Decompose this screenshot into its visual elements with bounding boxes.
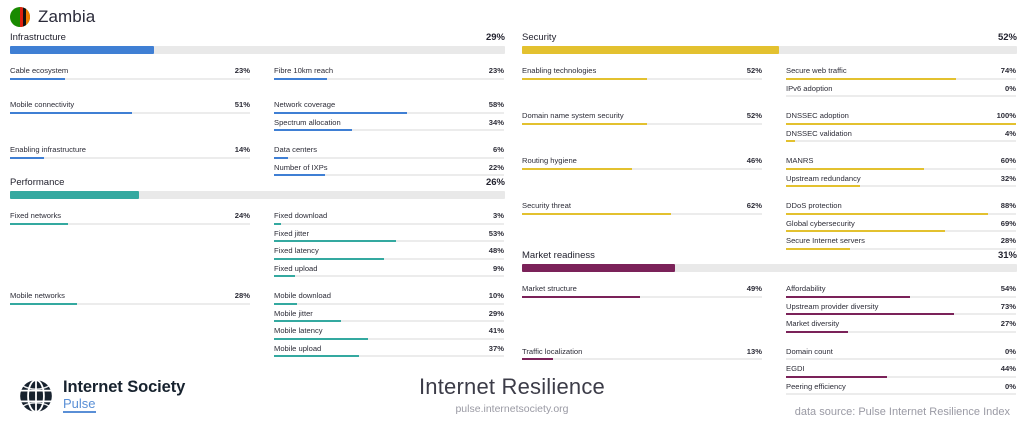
page-title: Zambia [38,7,95,27]
pillar-bar-fill [10,46,154,54]
metric-row: Data centers6% [274,145,504,162]
group-row: Fixed networks24% [10,211,250,228]
group-row: Market structure49% [522,284,762,301]
group-bar-track [10,112,250,114]
metric-value: 9% [493,264,504,273]
page-footer: Internet Society Pulse Internet Resilien… [0,372,1024,430]
metric-value: 41% [489,326,504,335]
pillar-bar-fill [522,264,675,272]
group-label: Traffic localization [522,347,582,356]
metric-bar-fill [274,338,368,340]
metric-row: Fixed upload9% [274,264,504,281]
metric-bar-fill [786,313,954,315]
pillar-bar-track [522,46,1017,54]
metric-bar-fill [274,240,396,242]
pillar-market-readiness: Market readiness31%Market structure49%Af… [522,250,1017,276]
metric-row: Network coverage58% [274,100,504,117]
metric-label: Domain count [786,347,833,356]
group-bar-track [522,213,762,215]
pillar-infrastructure: Infrastructure29%Cable ecosystem23%Fibre… [10,32,505,58]
group-value: 46% [747,156,762,165]
metric-value: 54% [1001,284,1016,293]
zambia-flag-icon [10,7,30,27]
metric-bar-track [274,240,504,242]
group-bar-track [522,168,762,170]
metric-bar-fill [786,123,1016,125]
group-row: Mobile networks28% [10,291,250,308]
metric-bar-fill [786,168,924,170]
group-value: 24% [235,211,250,220]
metric-value: 88% [1001,201,1016,210]
group-row: Enabling technologies52% [522,66,762,83]
metric-value: 27% [1001,319,1016,328]
metric-bar-fill [274,78,327,80]
footer-title: Internet Resilience [0,374,1024,400]
group-bar-track [522,78,762,80]
metric-label: Fixed jitter [274,229,309,238]
metric-label: Spectrum allocation [274,118,341,127]
pillar-value: 52% [998,32,1017,43]
metric-bar-track [786,358,1016,360]
metric-label: Fixed latency [274,246,319,255]
metric-row: DNSSEC adoption100% [786,111,1016,128]
group-value: 23% [235,66,250,75]
pillar-header: Performance26% [10,177,505,203]
metric-bar-track [786,123,1016,125]
metric-label: DDoS protection [786,201,842,210]
metric-bar-track [786,140,1016,142]
metric-value: 73% [1001,302,1016,311]
pillar-security: Security52%Enabling technologies52%Secur… [522,32,1017,58]
metric-label: Fixed upload [274,264,317,273]
metric-row: Affordability54% [786,284,1016,301]
metric-bar-fill [274,223,281,225]
metric-value: 69% [1001,219,1016,228]
group-bar-fill [10,223,68,225]
metric-bar-track [786,95,1016,97]
metric-value: 22% [489,163,504,172]
metric-bar-fill [786,185,860,187]
data-source-label: data source: Pulse Internet Resilience I… [795,406,1010,418]
metric-label: Market diversity [786,319,839,328]
pillar-title: Market readiness [522,250,595,261]
metric-value: 48% [489,246,504,255]
pillar-bar-track [10,46,505,54]
group-bar-fill [10,157,44,159]
metric-row: Mobile upload37% [274,344,504,361]
group-row: Enabling infrastructure14% [10,145,250,162]
metric-bar-fill [274,112,407,114]
metric-label: Fibre 10km reach [274,66,333,75]
metric-bar-track [274,174,504,176]
metric-label: Mobile download [274,291,331,300]
group-label: Enabling technologies [522,66,596,75]
group-label: Cable ecosystem [10,66,68,75]
metric-bar-fill [786,140,795,142]
metric-value: 53% [489,229,504,238]
metric-bar-track [786,230,1016,232]
pillar-header: Market readiness31% [522,250,1017,276]
metric-value: 100% [997,111,1016,120]
group-value: 14% [235,145,250,154]
metric-label: Number of IXPs [274,163,328,172]
metric-bar-track [274,78,504,80]
metric-row: Upstream provider diversity73% [786,302,1016,319]
group-row: Domain name system security52% [522,111,762,128]
metric-row: Mobile jitter29% [274,309,504,326]
group-bar-fill [10,112,132,114]
metric-bar-track [274,223,504,225]
page-header: Zambia [10,4,95,30]
group-bar-fill [522,123,647,125]
group-bar-track [522,123,762,125]
metric-bar-track [274,303,504,305]
metric-value: 32% [1001,174,1016,183]
pillar-header: Security52% [522,32,1017,58]
metric-row: DNSSEC validation4% [786,129,1016,146]
group-label: Mobile networks [10,291,65,300]
metric-label: Fixed download [274,211,327,220]
group-label: Fixed networks [10,211,61,220]
group-row: Routing hygiene46% [522,156,762,173]
group-bar-fill [522,213,671,215]
metric-bar-track [274,275,504,277]
group-row: Mobile connectivity51% [10,100,250,117]
group-bar-fill [10,78,65,80]
group-bar-fill [10,303,77,305]
metric-bar-track [274,112,504,114]
metric-label: Upstream provider diversity [786,302,878,311]
group-label: Market structure [522,284,577,293]
pillar-value: 31% [998,250,1017,261]
metric-bar-track [786,78,1016,80]
metric-row: Fixed jitter53% [274,229,504,246]
metric-bar-track [274,258,504,260]
metric-value: 58% [489,100,504,109]
metric-label: Data centers [274,145,317,154]
metric-bar-track [786,185,1016,187]
group-bar-track [522,358,762,360]
metric-value: 34% [489,118,504,127]
metric-row: Market diversity27% [786,319,1016,336]
pillar-title: Security [522,32,556,43]
group-value: 28% [235,291,250,300]
metric-value: 37% [489,344,504,353]
group-row: Cable ecosystem23% [10,66,250,83]
pillar-value: 29% [486,32,505,43]
metric-value: 29% [489,309,504,318]
metric-value: 6% [493,145,504,154]
pillar-bar-track [522,264,1017,272]
metric-row: Mobile download10% [274,291,504,308]
group-value: 51% [235,100,250,109]
pillar-header: Infrastructure29% [10,32,505,58]
pillar-bar-fill [10,191,139,199]
metric-bar-fill [786,331,848,333]
metric-row: DDoS protection88% [786,201,1016,218]
metric-row: Global cybersecurity69% [786,219,1016,236]
group-label: Enabling infrastructure [10,145,86,154]
metric-bar-track [274,338,504,340]
metric-bar-fill [274,320,341,322]
group-row: Security threat62% [522,201,762,218]
metric-row: IPv6 adoption0% [786,84,1016,101]
metric-row: Fibre 10km reach23% [274,66,504,83]
metric-bar-track [274,320,504,322]
metric-bar-fill [786,230,945,232]
metric-label: Network coverage [274,100,335,109]
metric-bar-fill [274,275,295,277]
group-value: 52% [747,66,762,75]
group-bar-track [522,296,762,298]
metric-label: DNSSEC adoption [786,111,849,120]
metric-row: Upstream redundancy32% [786,174,1016,191]
metric-value: 0% [1005,347,1016,356]
metric-bar-fill [274,174,325,176]
pillar-bar-track [10,191,505,199]
metric-label: Global cybersecurity [786,219,855,228]
metric-label: IPv6 adoption [786,84,832,93]
group-row: Traffic localization13% [522,347,762,364]
metric-row: Mobile latency41% [274,326,504,343]
metric-value: 4% [1005,129,1016,138]
metric-bar-track [274,129,504,131]
metric-label: Secure Internet servers [786,236,865,245]
group-label: Domain name system security [522,111,624,120]
metric-label: Mobile latency [274,326,323,335]
pillar-title: Performance [10,177,64,188]
pillar-value: 26% [486,177,505,188]
metric-row: Fixed latency48% [274,246,504,263]
metric-bar-track [786,296,1016,298]
metric-value: 23% [489,66,504,75]
metric-bar-fill [786,213,988,215]
metric-value: 10% [489,291,504,300]
metric-row: Spectrum allocation34% [274,118,504,135]
metric-row: Fixed download3% [274,211,504,228]
group-value: 62% [747,201,762,210]
metric-label: Mobile upload [274,344,321,353]
metric-value: 28% [1001,236,1016,245]
metric-bar-fill [274,258,384,260]
group-bar-fill [522,358,553,360]
group-bar-fill [522,168,632,170]
metric-bar-track [786,168,1016,170]
metric-bar-fill [274,355,359,357]
group-value: 49% [747,284,762,293]
metric-label: DNSSEC validation [786,129,852,138]
metric-value: 0% [1005,84,1016,93]
pillar-title: Infrastructure [10,32,66,43]
group-label: Security threat [522,201,571,210]
metric-bar-fill [274,129,352,131]
metric-label: MANRS [786,156,813,165]
group-label: Mobile connectivity [10,100,74,109]
metric-label: Upstream redundancy [786,174,861,183]
metric-label: Affordability [786,284,826,293]
metric-bar-fill [786,296,910,298]
group-bar-track [10,223,250,225]
group-bar-fill [522,78,647,80]
metric-row: Secure web traffic74% [786,66,1016,83]
group-bar-track [10,78,250,80]
metric-value: 3% [493,211,504,220]
metric-label: Secure web traffic [786,66,847,75]
metric-row: Domain count0% [786,347,1016,364]
metric-bar-fill [274,303,297,305]
metric-bar-track [786,213,1016,215]
metric-bar-fill [274,157,288,159]
metric-value: 60% [1001,156,1016,165]
metric-label: Mobile jitter [274,309,313,318]
group-bar-track [10,157,250,159]
pillar-performance: Performance26%Fixed networks24%Fixed dow… [10,177,505,203]
metric-bar-track [274,355,504,357]
metric-bar-track [786,313,1016,315]
group-label: Routing hygiene [522,156,577,165]
metric-row: MANRS60% [786,156,1016,173]
group-value: 13% [747,347,762,356]
pillar-bar-fill [522,46,779,54]
metric-bar-track [274,157,504,159]
metric-bar-fill [786,78,956,80]
group-bar-track [10,303,250,305]
group-bar-fill [522,296,640,298]
metric-value: 74% [1001,66,1016,75]
group-value: 52% [747,111,762,120]
metric-bar-track [786,331,1016,333]
